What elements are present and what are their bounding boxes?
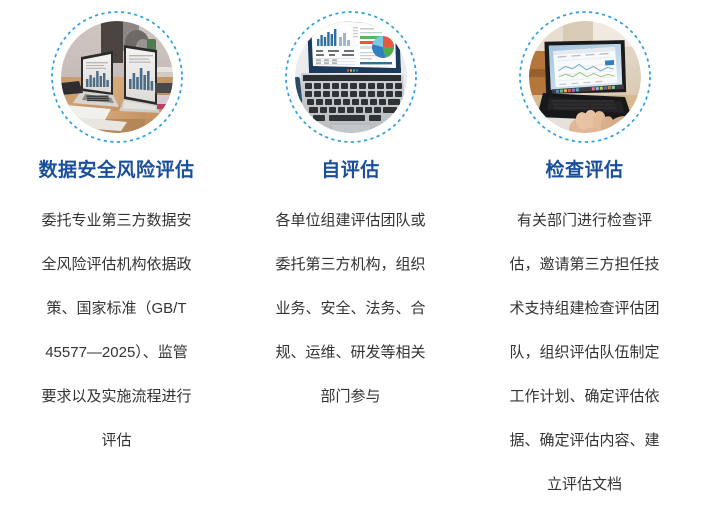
body-line: 委托专业第三方数据安 — [14, 199, 219, 243]
body-line: 业务、安全、法务、合 — [248, 287, 453, 331]
card-data-security-risk-assessment: 数据安全风险评估 委托专业第三方数据安 全风险评估机构依据政 策、国家标准（GB… — [0, 0, 233, 427]
assessment-cards-board: 数据安全风险评估 委托专业第三方数据安 全风险评估机构依据政 策、国家标准（GB… — [0, 0, 701, 427]
body-line: 据、确定评估内容、建 — [482, 419, 687, 463]
card-self-assessment: 自评估 各单位组建评估团队或 委托第三方机构，组织 业务、安全、法务、合 规、运… — [234, 0, 467, 427]
two-laptops-bar-charts-desk-photo — [61, 21, 173, 133]
body-line: 有关部门进行检查评 — [482, 199, 687, 243]
body-line: 部门参与 — [248, 375, 453, 419]
laptop-dashboard-topdown-photo — [295, 21, 407, 133]
card-title-2: 自评估 — [321, 160, 380, 182]
body-line: 术支持组建检查评估团 — [482, 287, 687, 331]
macbook-line-chart-hands-typing-photo — [529, 21, 641, 133]
body-line: 各单位组建评估团队或 — [248, 199, 453, 243]
body-line: 队，组织评估队伍制定 — [482, 331, 687, 375]
card-body-2: 各单位组建评估团队或 委托第三方机构，组织 业务、安全、法务、合 规、运维、研发… — [248, 199, 453, 419]
body-line: 要求以及实施流程进行 — [14, 375, 219, 419]
body-line: 45577—2025）、监管 — [14, 331, 219, 375]
body-line: 规、运维、研发等相关 — [248, 331, 453, 375]
body-line: 立评估文档 — [482, 463, 687, 507]
circle-image-frame-2 — [284, 10, 418, 144]
body-line: 全风险评估机构依据政 — [14, 243, 219, 287]
body-line: 策、国家标准（GB/T — [14, 287, 219, 331]
card-title-1: 数据安全风险评估 — [38, 160, 194, 182]
body-line: 评估 — [14, 419, 219, 463]
card-body-1: 委托专业第三方数据安 全风险评估机构依据政 策、国家标准（GB/T 45577—… — [14, 199, 219, 463]
card-inspection-assessment: 检查评估 有关部门进行检查评 估，邀请第三方担任技 术支持组建检查评估团 队，组… — [468, 0, 701, 427]
card-title-3: 检查评估 — [545, 160, 623, 182]
body-line: 工作计划、确定评估依 — [482, 375, 687, 419]
card-body-3: 有关部门进行检查评 估，邀请第三方担任技 术支持组建检查评估团 队，组织评估队伍… — [482, 199, 687, 507]
body-line: 委托第三方机构，组织 — [248, 243, 453, 287]
body-line: 估，邀请第三方担任技 — [482, 243, 687, 287]
circle-image-frame-1 — [50, 10, 184, 144]
circle-image-frame-3 — [518, 10, 652, 144]
